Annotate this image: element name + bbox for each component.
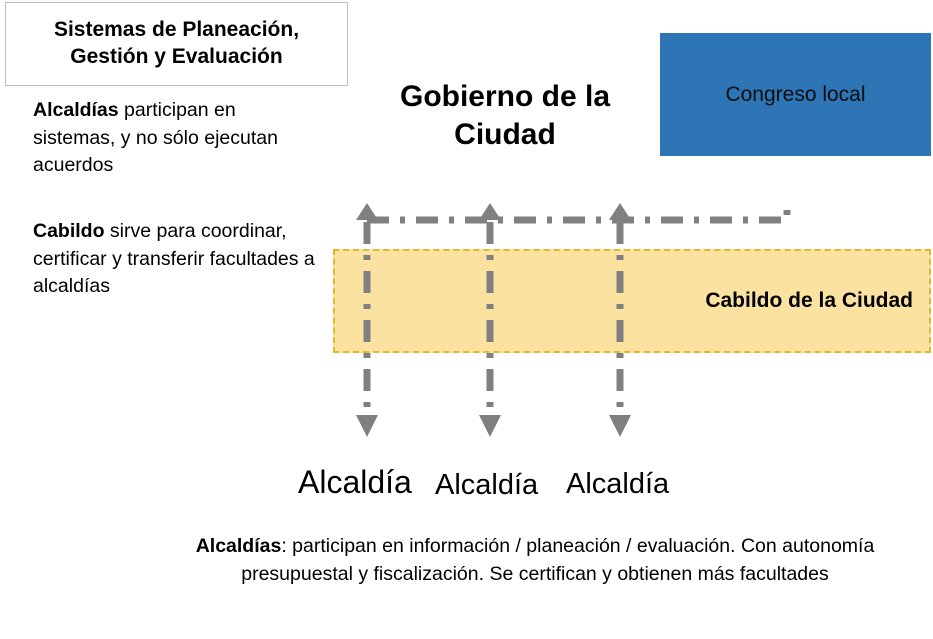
alcaldia-label-1: Alcaldía <box>298 466 412 498</box>
arrowhead-down-1 <box>356 415 378 437</box>
diagram-canvas: Sistemas de Planeación, Gestión y Evalua… <box>0 0 933 639</box>
footer-caption-rest: : participan en información / planeación… <box>241 535 874 585</box>
note-alcaldias: Alcaldías participan en sistemas, y no s… <box>33 97 323 180</box>
page-title-line-1: Gobierno de la <box>400 80 610 113</box>
arrowhead-up-1 <box>356 203 378 220</box>
arrowhead-down-3 <box>609 415 631 437</box>
arrowhead-up-2 <box>479 203 501 220</box>
arrowhead-down-2 <box>479 415 501 437</box>
congreso-local-label: Congreso local <box>725 83 865 107</box>
arrowhead-up-3 <box>609 203 631 220</box>
note-cabildo-lead: Cabildo <box>33 220 105 242</box>
page-title-line-2: Ciudad <box>454 118 556 151</box>
alcaldia-label-3: Alcaldía <box>566 470 669 499</box>
rail-to-congreso-line <box>367 203 787 220</box>
footer-caption-lead: Alcaldías <box>196 535 282 557</box>
legend-title-text: Sistemas de Planeación, Gestión y Evalua… <box>46 17 307 71</box>
cabildo-band-label: Cabildo de la Ciudad <box>705 289 913 313</box>
congreso-local-box: Congreso local <box>660 33 931 156</box>
footer-caption: Alcaldías: participan en información / p… <box>150 532 920 588</box>
legend-title-line-2: Gestión y Evaluación <box>70 45 282 68</box>
legend-title-line-1: Sistemas de Planeación, <box>54 18 299 41</box>
note-cabildo: Cabildo sirve para coordinar, certificar… <box>33 218 325 301</box>
alcaldia-label-2: Alcaldía <box>435 471 538 500</box>
cabildo-band: Cabildo de la Ciudad <box>333 249 931 353</box>
note-alcaldias-lead: Alcaldías <box>33 99 119 121</box>
page-title: Gobierno de la Ciudad <box>360 78 650 155</box>
legend-title-box: Sistemas de Planeación, Gestión y Evalua… <box>5 2 348 86</box>
